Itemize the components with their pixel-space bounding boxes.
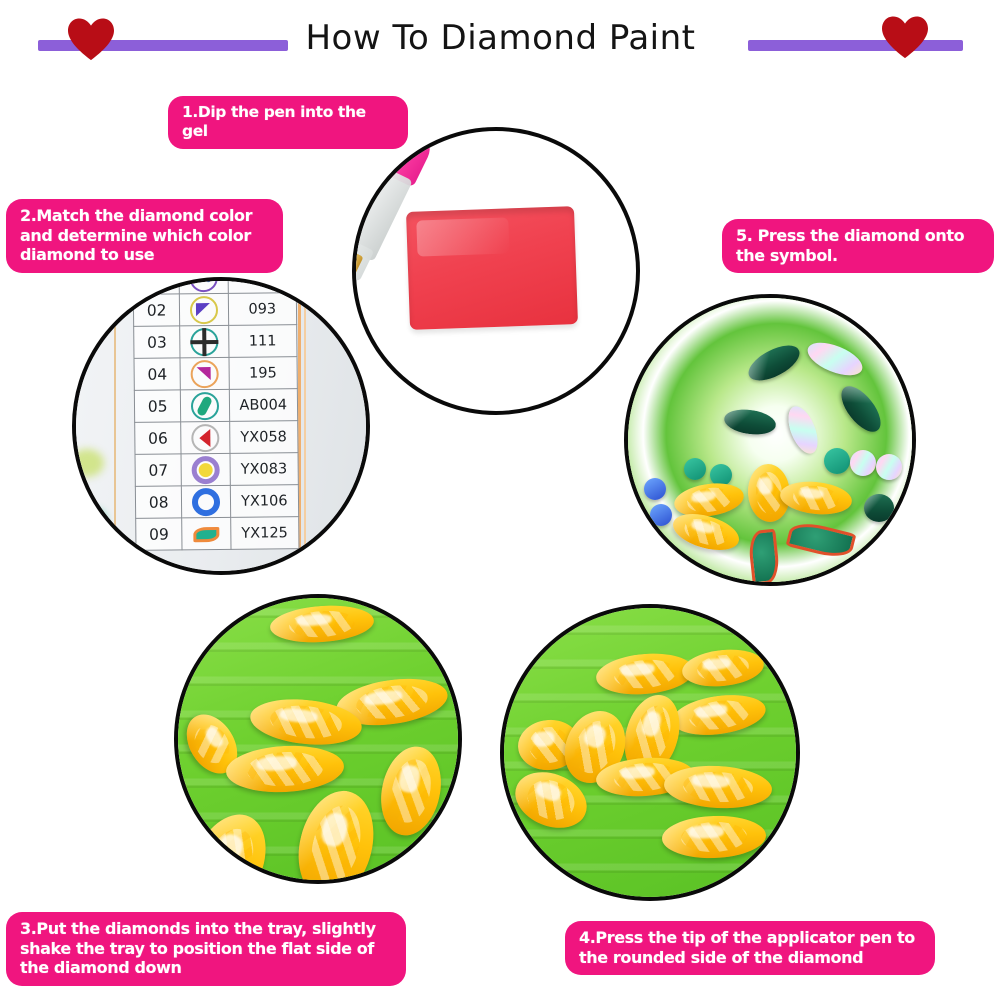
page-title: How To Diamond Paint: [0, 18, 1001, 58]
table-row: 05 AB004: [134, 389, 297, 423]
table-row: 07 YX083: [135, 453, 298, 487]
cell-number: 08: [135, 486, 182, 518]
rhinestone: [864, 494, 894, 522]
table-row: 09 YX125: [136, 517, 299, 551]
photo-diamonds-in-tray: [174, 594, 462, 884]
triangle-blue-violet-icon: [180, 293, 229, 326]
cell-number: 04: [134, 358, 181, 390]
color-symbol-table: 020 02 093 03: [132, 277, 299, 551]
table-row: 02 093: [133, 293, 296, 327]
photo-pen-dipping-gel: [352, 127, 640, 415]
cell-code: 195: [229, 357, 298, 390]
table-row: 020: [133, 277, 296, 294]
table-row: 08 YX106: [135, 485, 298, 519]
table-row: 04 195: [134, 357, 297, 391]
cell-number: 05: [134, 390, 181, 422]
chart-edge-line: [304, 281, 306, 571]
left-chevron-red-icon: [181, 421, 230, 454]
red-gel-pad: [406, 206, 578, 330]
cell-code: 111: [228, 325, 297, 358]
cell-code: YX106: [230, 485, 299, 518]
chart-blur-blob: [80, 509, 106, 531]
rhinestone: [644, 478, 666, 500]
infographic-page: How To Diamond Paint 1.Dip the pen into …: [0, 0, 1001, 1001]
header: How To Diamond Paint: [0, 0, 1001, 90]
photo-color-symbol-chart: 020 02 093 03: [72, 277, 370, 575]
open-ring-blue-icon: [182, 485, 231, 518]
rhinestone: [876, 454, 902, 480]
plus-cross-teal-icon: [180, 325, 229, 358]
cell-code: 020: [228, 277, 297, 293]
cell-code: YX125: [230, 517, 299, 550]
rhinestone: [684, 458, 706, 480]
step-label-4: 4.Press the tip of the applicator pen to…: [565, 921, 935, 975]
cell-number: 03: [134, 326, 181, 358]
step-label-3: 3.Put the diamonds into the tray, slight…: [6, 912, 406, 986]
cell-code: YX058: [229, 421, 298, 454]
cell-code: YX083: [230, 453, 299, 486]
step-label-2: 2.Match the diamond color and determine …: [6, 199, 283, 273]
rhinestone: [824, 448, 850, 474]
dot-yellow-purple-ring-icon: [181, 453, 230, 486]
double-drop-purple-icon: [179, 277, 228, 294]
cell-code: AB004: [229, 389, 298, 422]
leaf-teal-orange-icon: [182, 517, 231, 550]
cell-number: 07: [135, 454, 182, 486]
chart-blur-blob: [72, 531, 94, 549]
rhinestone: [850, 450, 876, 476]
cell-number: 06: [135, 422, 182, 454]
triangle-magenta-icon: [180, 357, 229, 390]
rhinestone: [650, 504, 672, 526]
diagonal-bar-green-icon: [181, 389, 230, 422]
cell-code: 093: [228, 293, 297, 326]
step-label-5: 5. Press the diamond onto the symbol.: [722, 219, 994, 273]
cell-number: [133, 277, 180, 294]
photo-pen-picking-diamond: [500, 604, 800, 901]
table-row: 03 111: [134, 325, 297, 359]
chart-edge-line: [114, 281, 116, 571]
photo-diamond-onto-symbol: [624, 294, 916, 586]
table-row: 06 YX058: [135, 421, 298, 455]
cell-number: 09: [136, 518, 183, 550]
cell-number: 02: [133, 294, 180, 326]
